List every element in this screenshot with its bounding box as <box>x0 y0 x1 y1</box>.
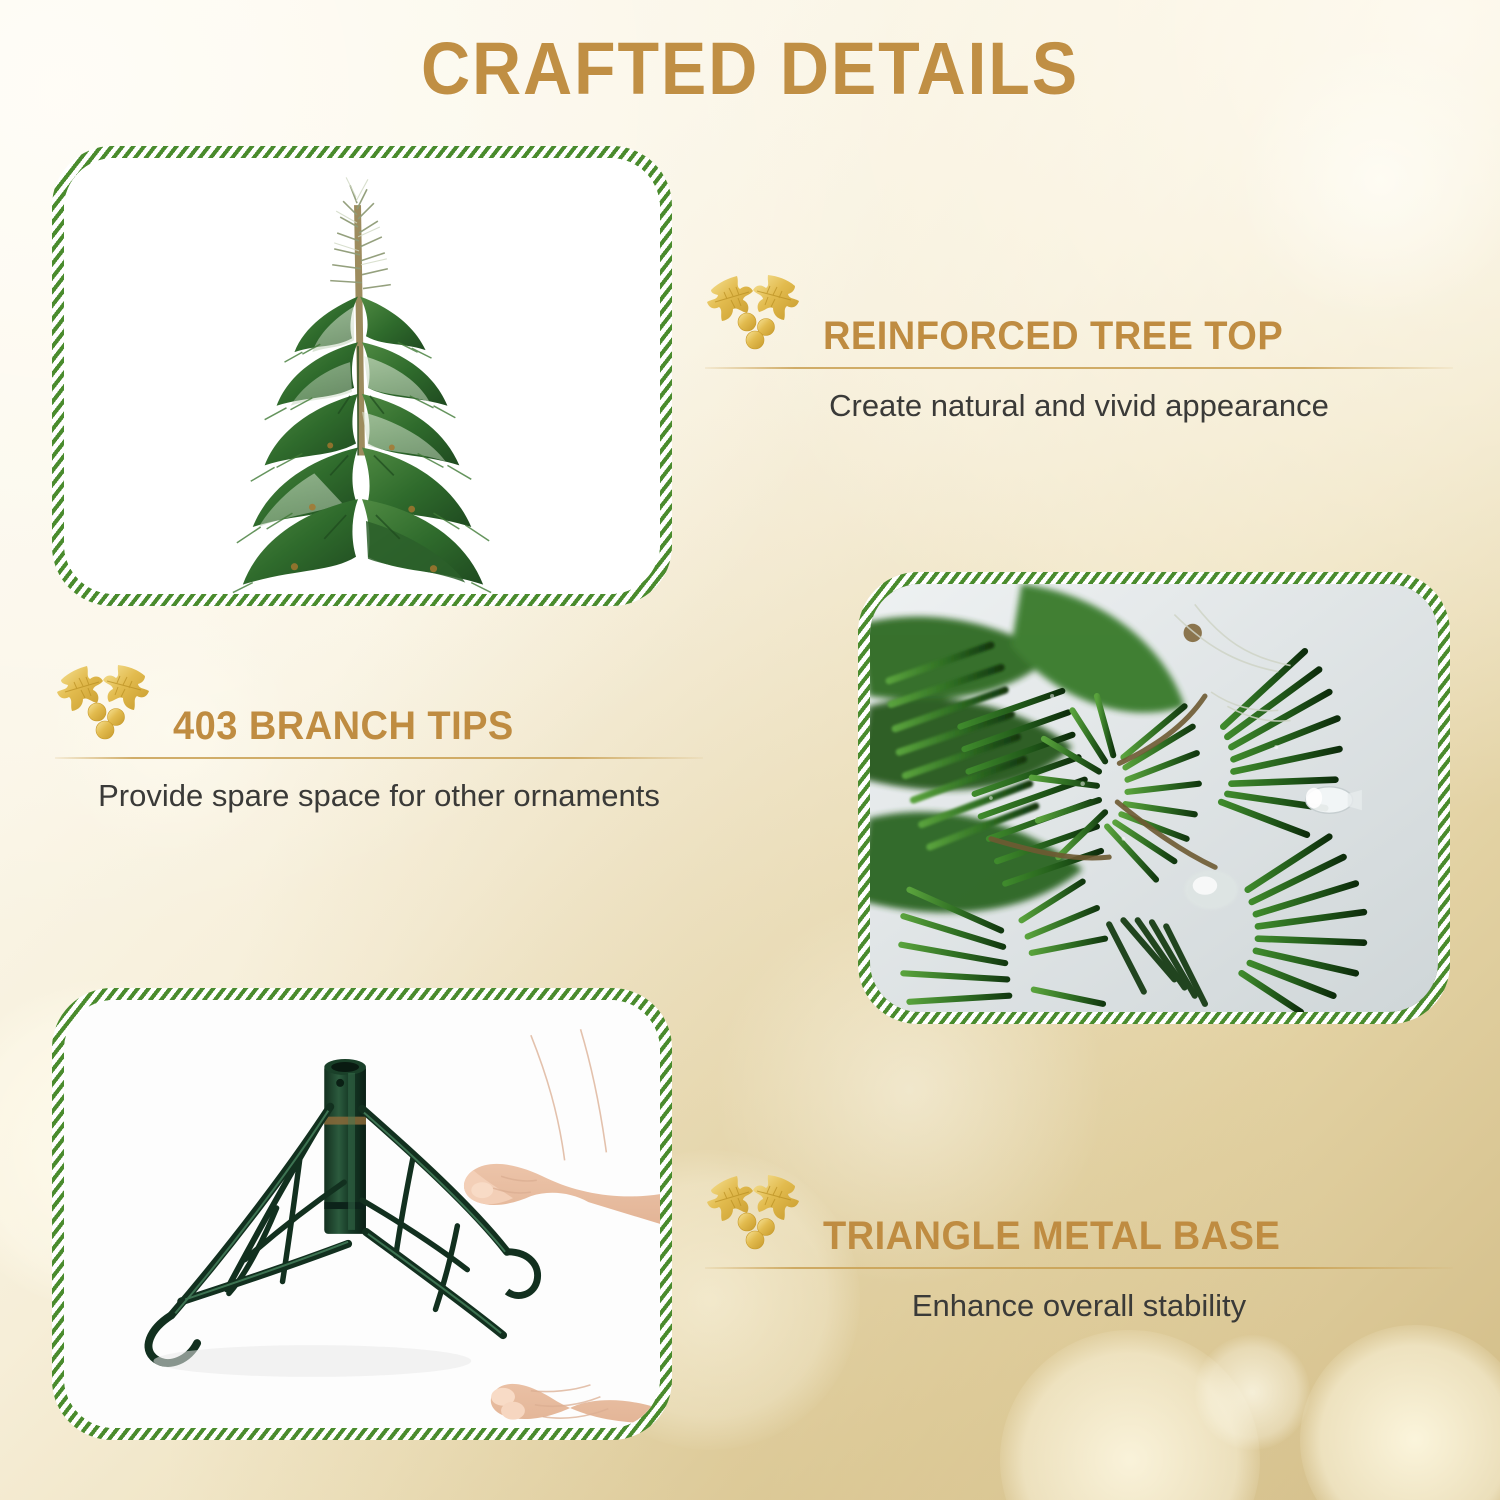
divider-line <box>705 1267 1453 1269</box>
feature-subtitle: Provide spare space for other ornaments <box>55 775 703 818</box>
panel-branch-closeup <box>858 572 1450 1024</box>
panel-metal-base-image <box>64 1000 660 1428</box>
feature-triangle-metal-base: TRIANGLE METAL BASE Enhance overall stab… <box>705 1172 1453 1328</box>
feature-branch-tips: 403 BRANCH TIPS Provide spare space for … <box>55 662 703 818</box>
feature-subtitle: Enhance overall stability <box>705 1285 1453 1328</box>
holly-icon <box>705 1172 801 1261</box>
feature-title: 403 BRANCH TIPS <box>173 704 514 751</box>
panel-metal-base <box>52 988 672 1440</box>
page-title: CRAFTED DETAILS <box>60 26 1440 111</box>
holly-icon <box>705 272 801 361</box>
panel-tree-top-image <box>64 158 660 594</box>
center-tube <box>324 1059 366 1234</box>
infographic-canvas: CRAFTED DETAILS <box>0 0 1500 1500</box>
divider-line <box>55 757 703 759</box>
holly-icon <box>55 662 151 751</box>
feature-title: TRIANGLE METAL BASE <box>823 1214 1280 1261</box>
christmas-tree-illustration <box>64 158 660 594</box>
panel-tree-top <box>52 146 672 606</box>
metal-tree-stand-illustration <box>64 1000 660 1428</box>
panel-branch-closeup-image <box>870 584 1438 1012</box>
feature-title: REINFORCED TREE TOP <box>823 314 1283 361</box>
pine-needle-macro-illustration <box>870 584 1438 1012</box>
divider-line <box>705 367 1453 369</box>
feature-subtitle: Create natural and vivid appearance <box>705 385 1453 428</box>
feature-reinforced-tree-top: REINFORCED TREE TOP Create natural and v… <box>705 272 1453 428</box>
